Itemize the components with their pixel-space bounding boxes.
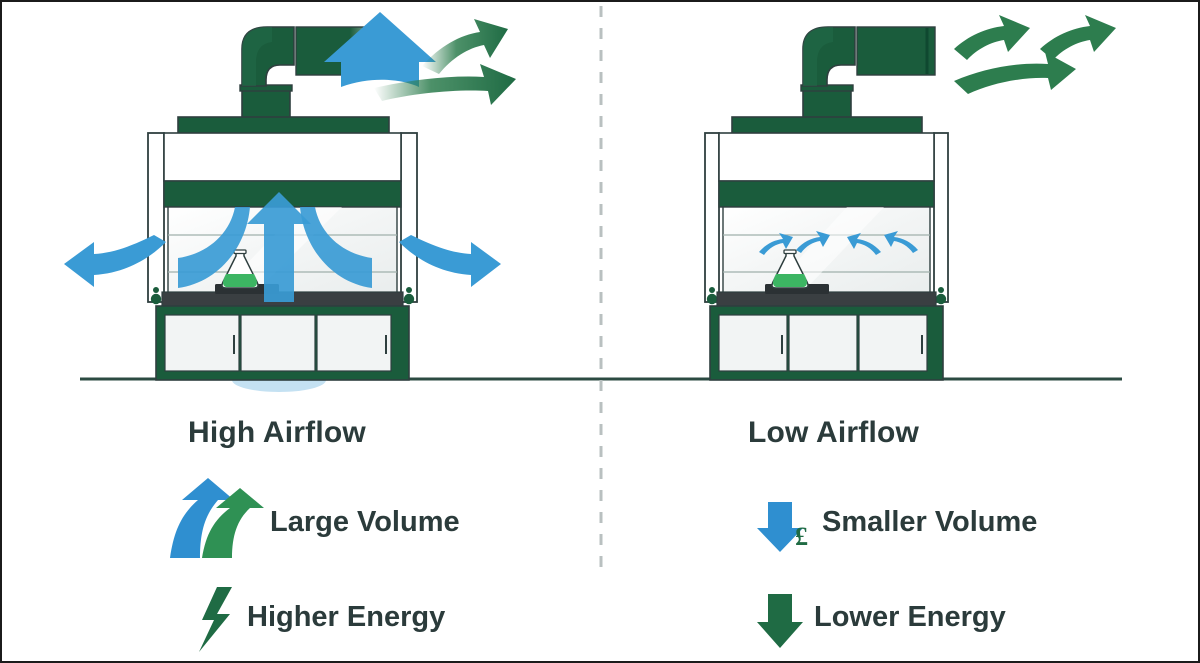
diagram-root: £ High Airflow Low Airflow Large Volume … [0, 0, 1200, 663]
fume-hood-high-airflow [64, 12, 516, 392]
cabinet-door-1[interactable] [165, 315, 239, 371]
hood-upper-face-right [719, 133, 934, 181]
fume-hood-comparison-svg: £ [2, 2, 1198, 661]
duct-exit-arrow-green-3 [954, 52, 1076, 94]
legend-label-large-volume: Large Volume [270, 506, 460, 539]
flask-lip [234, 250, 246, 254]
legend-item-lower-energy: Lower Energy [814, 601, 1006, 634]
legend-label-smaller-volume: Smaller Volume [822, 506, 1037, 539]
duct-exit-arrow-green-1 [954, 15, 1030, 60]
svg-text:£: £ [795, 522, 808, 551]
hood-indicator-left-small [153, 287, 159, 293]
fume-hood-low-airflow [705, 15, 1116, 380]
hood-indicator-right-small [406, 287, 412, 293]
duct-exit-arrow-green-2 [1040, 15, 1116, 60]
legend-item-large-volume: Large Volume [270, 506, 460, 539]
left-panel-title: High Airflow [188, 416, 366, 450]
legend-icon-dual-up-arrows [170, 478, 264, 558]
cabinet-door-1-right[interactable] [719, 315, 787, 371]
cabinet-door-3-right[interactable] [859, 315, 927, 371]
flask-liquid [223, 274, 257, 287]
cabinet-door-3[interactable] [317, 315, 391, 371]
sash-handle-band-right [719, 181, 934, 207]
legend-label-higher-energy: Higher Energy [247, 601, 445, 634]
work-surface-right [717, 292, 936, 306]
legend-icon-lightning-bolt [199, 587, 232, 652]
hood-knob-right-right [936, 294, 946, 304]
hood-post-right [401, 133, 417, 302]
hood-upper-face [164, 133, 401, 181]
cabinet-door-2[interactable] [241, 315, 315, 371]
legend-label-lower-energy: Lower Energy [814, 601, 1006, 634]
flask-lip-right [784, 250, 796, 254]
hood-indicator-right-small-right [938, 287, 944, 293]
duct-exit-arrow-green-upper [422, 19, 508, 74]
legend-item-higher-energy: Higher Energy [247, 601, 445, 634]
legend-item-smaller-volume: Smaller Volume [822, 506, 1037, 539]
hood-post-left [148, 133, 164, 302]
cabinet-door-2-right[interactable] [789, 315, 857, 371]
hood-knob-right [404, 294, 414, 304]
duct-outlet-right [857, 27, 935, 75]
right-panel-title: Low Airflow [748, 416, 919, 450]
hood-knob-left-right [707, 294, 717, 304]
legend-icon-down-arrow [757, 594, 803, 648]
flask-liquid-right [773, 274, 807, 287]
hood-post-right-right [934, 133, 948, 302]
legend-icon-down-arrow-pound: £ [757, 502, 808, 552]
duct-exit-arrow-blue [324, 12, 436, 87]
duct-exit-arrows-green-right [954, 15, 1116, 94]
hood-indicator-left-small-right [709, 287, 715, 293]
hood-knob-left [151, 294, 161, 304]
hood-post-left-right [705, 133, 719, 302]
